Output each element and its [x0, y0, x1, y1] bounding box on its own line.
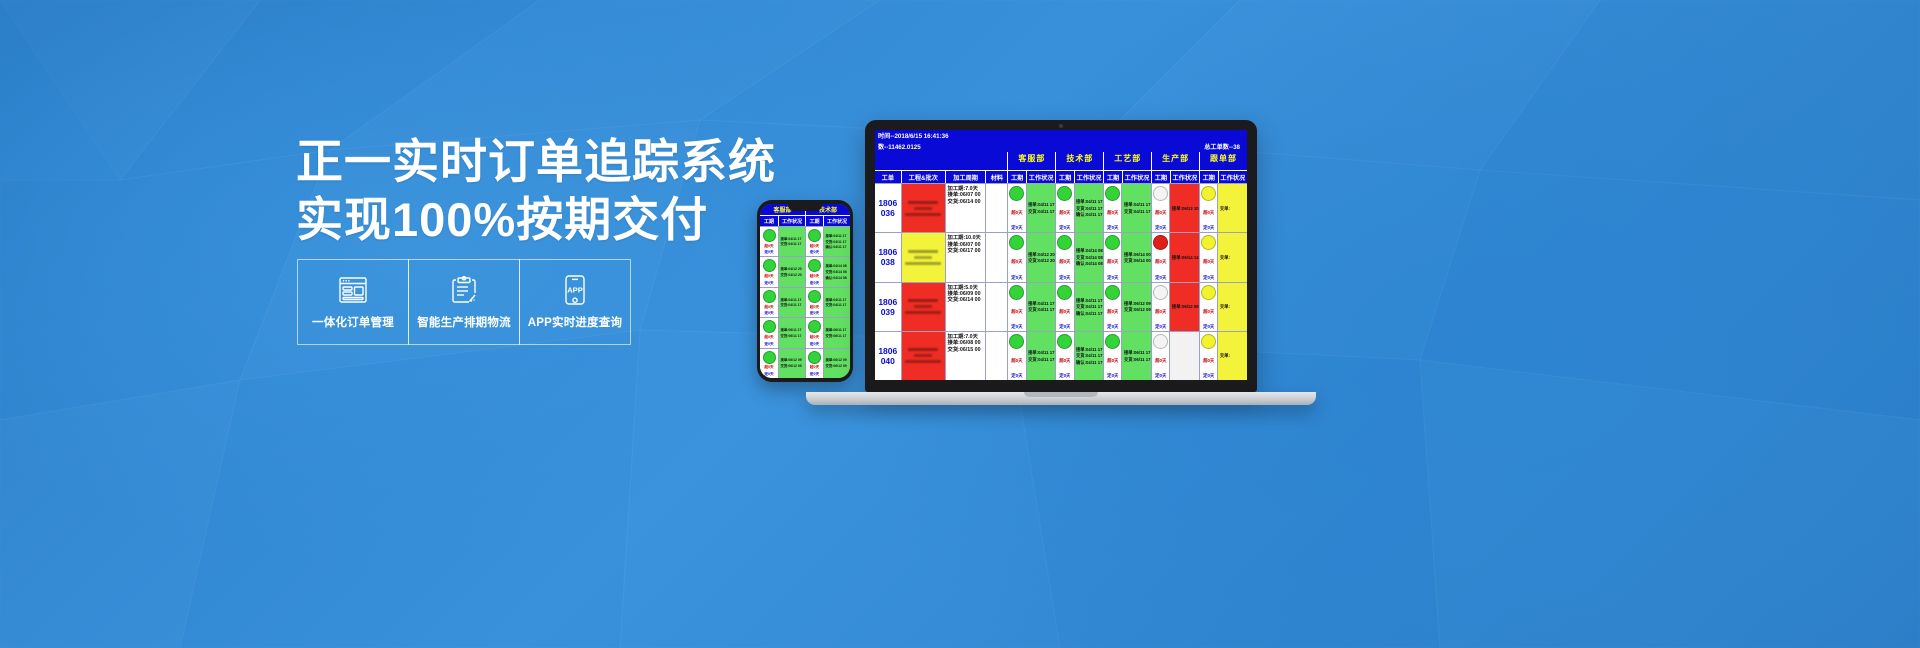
- status-line-1: 接单:06/14 14: [1172, 255, 1198, 260]
- feature-item-production-scheduling[interactable]: 智能生产排期物流: [408, 259, 520, 345]
- laptop-lid: 时间--2018/6/15 16:41:36 数--11462.0125 总工单…: [865, 120, 1257, 392]
- status-line-1: 接单:06/11 17: [1124, 350, 1150, 355]
- duration-set-tag: 定0天: [1203, 225, 1214, 231]
- cell-work-order: 1806036: [875, 184, 901, 232]
- cycle-line-3: 交货:06/14 00: [948, 297, 984, 303]
- board-counter: 数--11462.0125: [878, 142, 921, 151]
- work-order-line-2: 039: [881, 307, 895, 317]
- cell-duration-4[interactable]: 超0天定0天: [1151, 233, 1169, 281]
- status-line-3: 确认:04/11 17: [1076, 212, 1102, 217]
- status-line-1: 交单:: [1220, 304, 1246, 309]
- phone-status-line-1: 接单:04/11 17: [826, 234, 849, 238]
- status-dot-3: [1105, 186, 1120, 201]
- status-line-1: 接单:04/11 17: [1076, 298, 1102, 303]
- cell-work-status-4[interactable]: 接单:06/12 09: [1169, 283, 1199, 331]
- feature-label: 一体化订单管理: [312, 314, 394, 330]
- phone-duration-set-tag: 定0天: [810, 372, 819, 377]
- phone-cell-duration-2[interactable]: 超0天定0天: [805, 349, 823, 378]
- duration-set-tag: 定0天: [1203, 275, 1214, 281]
- column-header-工单: 工单: [875, 170, 901, 183]
- cell-duration-2[interactable]: 超0天定0天: [1055, 233, 1073, 281]
- phone-status-dot-2: [808, 290, 821, 303]
- status-line-2: 交货:04/11 17: [1028, 209, 1054, 214]
- phone-mockup: 客服部技术部 工期工作状况工期工作状况 超0天定0天接单:04/11 17交货:…: [757, 200, 853, 382]
- phone-cell-duration-1[interactable]: 超0天定0天: [760, 288, 778, 317]
- phone-status-dot-1: [763, 290, 776, 303]
- phone-duration-over-tag: 超0天: [810, 365, 819, 370]
- table-row[interactable]: 1806039加工期:5.0天接单:06/09 00交货:06/14 00超0天…: [875, 282, 1247, 331]
- department-header-1: 客服部: [1007, 152, 1055, 170]
- phone-status-line-2: 交货:04/11 17: [781, 303, 804, 307]
- phone-status-line-2: 交货:06/11 17: [781, 334, 804, 338]
- status-dot-4: [1153, 186, 1168, 201]
- status-line-3: 确认:04/11 17: [1076, 360, 1102, 365]
- duration-set-tag: 定0天: [1011, 324, 1022, 330]
- phone-status-dot-1: [763, 259, 776, 272]
- table-row[interactable]: 1806040加工期:7.0天接单:06/08 00交货:06/15 00超0天…: [875, 331, 1247, 380]
- status-line-1: 交单:: [1220, 255, 1246, 260]
- status-dot-5: [1201, 235, 1216, 250]
- status-dot-2: [1057, 186, 1072, 201]
- status-dot-1: [1009, 235, 1024, 250]
- status-dot-5: [1201, 285, 1216, 300]
- status-line-1: 交单:: [1220, 206, 1246, 211]
- status-line-1: 接单:04/11 17: [1076, 347, 1102, 352]
- phone-table-row[interactable]: 超0天定0天接单:06/12 09交货:06/12 09超0天定0天接单:06/…: [760, 348, 850, 378]
- status-dot-2: [1057, 285, 1072, 300]
- status-line-1: 接单:04/14 08: [1076, 248, 1102, 253]
- status-line-1: 交单:: [1220, 353, 1246, 358]
- column-header-2-工作状况: 工作状况: [1074, 170, 1103, 183]
- phone-cell-duration-1[interactable]: 超0天定0天: [760, 318, 778, 347]
- phone-status-line-1: 接单:04/11 17: [781, 298, 804, 302]
- duration-set-tag: 定0天: [1155, 373, 1166, 379]
- feature-item-app-progress-query[interactable]: APP APP实时进度查询: [519, 259, 631, 345]
- phone-duration-over-tag: 超0天: [764, 305, 773, 310]
- cell-duration-2[interactable]: 超0天定0天: [1055, 184, 1073, 232]
- phone-cell-duration-2[interactable]: 超0天定0天: [805, 227, 823, 256]
- phone-column-header-2-工期: 工期: [805, 215, 823, 226]
- duration-over-tag: 超0天: [1059, 358, 1070, 364]
- phone-status-line-2: 交货:04/11 17: [781, 242, 804, 246]
- phone-cell-duration-1[interactable]: 超0天定0天: [760, 349, 778, 378]
- status-line-1: 接单:04/11 17: [1028, 202, 1054, 207]
- phone-duration-set-tag: 定0天: [810, 250, 819, 255]
- status-line-2: 交货:04/11 17: [1028, 357, 1054, 362]
- phone-table-row[interactable]: 超0天定0天接单:04/12 20交货:04/12 20超0天定0天接单:04/…: [760, 256, 850, 286]
- cell-duration-1[interactable]: 超0天定0天: [1007, 184, 1025, 232]
- status-line-2: 交货:04/11 17: [1124, 209, 1150, 214]
- duration-set-tag: 定0天: [1203, 324, 1214, 330]
- phone-column-header-2-工作状况: 工作状况: [823, 215, 850, 226]
- duration-over-tag: 超0天: [1155, 210, 1166, 216]
- duration-over-tag: 超0天: [1059, 210, 1070, 216]
- duration-over-tag: 超0天: [1203, 259, 1214, 265]
- feature-label: APP实时进度查询: [528, 314, 622, 330]
- status-line-1: 接单:04/12 20: [1028, 252, 1054, 257]
- cell-work-order: 1806038: [875, 233, 901, 281]
- status-line-1: 接单:06/14 00: [1124, 252, 1150, 257]
- status-line-2: 交货:04/12 20: [1028, 258, 1054, 263]
- column-header-5-工作状况: 工作状况: [1218, 170, 1247, 183]
- cell-duration-1[interactable]: 超0天定0天: [1007, 233, 1025, 281]
- phone-status-dot-1: [763, 320, 776, 333]
- phone-table-row[interactable]: 超0天定0天接单:04/11 17交货:04/11 17超0天定0天接单:04/…: [760, 226, 850, 256]
- cell-work-status-4[interactable]: 接单:06/14 14: [1169, 233, 1199, 281]
- work-order-line-1: 1806: [878, 247, 897, 257]
- phone-duration-set-tag: 定0天: [764, 342, 773, 347]
- column-header-1-工期: 工期: [1007, 170, 1025, 183]
- phone-table-row[interactable]: 超0天定0天接单:06/11 17交货:06/11 17超0天定0天接单:06/…: [760, 317, 850, 347]
- column-header-1-工作状况: 工作状况: [1026, 170, 1055, 183]
- cell-processing-cycle: 加工期:7.0天接单:06/07 00交货:06/14 00: [945, 184, 986, 232]
- phone-column-header-row: 工期工作状况工期工作状况: [760, 215, 850, 226]
- duration-set-tag: 定0天: [1011, 373, 1022, 379]
- phone-notch: [788, 204, 822, 211]
- work-order-line-2: 036: [881, 208, 895, 218]
- phone-column-header-1-工作状况: 工作状况: [778, 215, 805, 226]
- work-order-line-1: 1806: [878, 346, 897, 356]
- status-line-2: 交货:04/14 08: [1076, 255, 1102, 260]
- phone-status-line-1: 接单:04/11 17: [781, 237, 804, 241]
- phone-status-line-1: 接单:06/12 09: [826, 358, 849, 362]
- status-dot-2: [1057, 334, 1072, 349]
- cell-work-status-1[interactable]: 接单:04/12 20交货:04/12 20: [1026, 233, 1056, 281]
- status-line-1: 接单:04/11 17: [1028, 350, 1054, 355]
- phone-duration-over-tag: 超0天: [764, 365, 773, 370]
- duration-over-tag: 超0天: [1011, 358, 1022, 364]
- duration-set-tag: 定0天: [1011, 225, 1022, 231]
- duration-set-tag: 定0天: [1059, 275, 1070, 281]
- status-dot-4: [1153, 235, 1168, 250]
- phone-cell-work-status-1[interactable]: 接单:06/11 17交货:06/11 17: [778, 318, 805, 347]
- duration-set-tag: 定0天: [1011, 275, 1022, 281]
- cell-work-order: 1806040: [875, 332, 901, 380]
- duration-over-tag: 超0天: [1107, 358, 1118, 364]
- status-dot-4: [1153, 285, 1168, 300]
- phone-cell-duration-1[interactable]: 超0天定0天: [760, 257, 778, 286]
- column-header-工程&批次: 工程&批次: [901, 170, 945, 183]
- phone-duration-set-tag: 定0天: [764, 250, 773, 255]
- work-order-line-2: 040: [881, 356, 895, 366]
- phone-status-line-2: 交货:04/11 17: [826, 240, 849, 244]
- phone-duration-over-tag: 超0天: [764, 244, 773, 249]
- hero-banner: 正一实时订单追踪系统 实现100%按期交付 一体化订单管理: [0, 0, 1920, 648]
- cell-work-status-3[interactable]: 接单:06/12 09交货:06/12 09: [1121, 283, 1151, 331]
- phone-cell-work-status-2[interactable]: 接单:06/12 09交货:06/12 09: [823, 349, 850, 378]
- feature-item-order-management[interactable]: 一体化订单管理: [297, 259, 409, 345]
- status-line-2: 交货:06/12 09: [1124, 307, 1150, 312]
- duration-over-tag: 超0天: [1203, 210, 1214, 216]
- phone-cell-duration-2[interactable]: 超0天定0天: [805, 257, 823, 286]
- status-dot-5: [1201, 186, 1216, 201]
- cell-duration-3[interactable]: 超0天定0天: [1103, 332, 1121, 380]
- phone-cell-duration-1[interactable]: 超0天定0天: [760, 227, 778, 256]
- cell-work-status-3[interactable]: 接单:06/11 17交货:06/11 17: [1121, 332, 1151, 380]
- phone-cell-work-status-1[interactable]: 接单:04/11 17交货:04/11 17: [778, 227, 805, 256]
- column-header-4-工期: 工期: [1151, 170, 1169, 183]
- cell-work-status-2[interactable]: 接单:04/14 08交货:04/14 08确认:04/14 08: [1074, 233, 1104, 281]
- phone-status-dot-1: [763, 351, 776, 364]
- column-header-row: 工单工程&批次加工周期材料工期工作状况工期工作状况工期工作状况工期工作状况工期工…: [875, 170, 1247, 183]
- duration-over-tag: 超0天: [1011, 309, 1022, 315]
- column-header-2-工期: 工期: [1055, 170, 1073, 183]
- phone-cell-work-status-1[interactable]: 接单:04/12 20交货:04/12 20: [778, 257, 805, 286]
- cell-work-status-1[interactable]: 接单:04/11 17交货:04/11 17: [1026, 332, 1056, 380]
- status-line-1: 接单:04/11 17: [1028, 301, 1054, 306]
- phone-duration-over-tag: 超0天: [810, 244, 819, 249]
- cell-work-status-1[interactable]: 接单:04/11 17交货:04/11 17: [1026, 184, 1056, 232]
- column-header-3-工作状况: 工作状况: [1122, 170, 1151, 183]
- cell-work-status-5[interactable]: 交单:: [1217, 332, 1247, 380]
- duration-set-tag: 定0天: [1107, 373, 1118, 379]
- board-status-line-1: 时间--2018/6/15 16:41:36: [875, 130, 1247, 141]
- status-line-2: 交货:04/11 17: [1076, 304, 1102, 309]
- duration-set-tag: 定0天: [1155, 225, 1166, 231]
- board-header: 时间--2018/6/15 16:41:36 数--11462.0125 总工单…: [875, 130, 1247, 183]
- phone-duration-set-tag: 定0天: [810, 281, 819, 286]
- phone-duration-set-tag: 定0天: [764, 311, 773, 316]
- phone-cell-work-status-2[interactable]: 接单:04/14 08交货:04/14 08确认:04/14 08: [823, 257, 850, 286]
- phone-status-line-1: 接单:06/11 17: [826, 328, 849, 332]
- status-line-1: 接单:06/12 09: [1172, 304, 1198, 309]
- status-dot-3: [1105, 334, 1120, 349]
- cell-work-status-3[interactable]: 接单:06/14 00交货:06/14 00: [1121, 233, 1151, 281]
- work-order-line-1: 1806: [878, 297, 897, 307]
- phone-status-dot-2: [808, 259, 821, 272]
- duration-set-tag: 定0天: [1155, 324, 1166, 330]
- cell-work-order: 1806039: [875, 283, 901, 331]
- duration-set-tag: 定0天: [1059, 324, 1070, 330]
- cell-processing-cycle: 加工期:10.0天接单:06/07 00交货:06/17 00: [945, 233, 986, 281]
- cell-work-status-4[interactable]: [1169, 332, 1199, 380]
- status-line-1: 接单:06/13 10: [1172, 206, 1198, 211]
- status-line-1: 接单:04/11 17: [1124, 202, 1150, 207]
- cell-work-status-5[interactable]: 交单:: [1217, 184, 1247, 232]
- duration-over-tag: 超0天: [1107, 259, 1118, 265]
- cell-work-status-3[interactable]: 接单:04/11 17交货:04/11 17: [1121, 184, 1151, 232]
- column-header-加工周期: 加工周期: [945, 170, 985, 183]
- duration-over-tag: 超0天: [1059, 259, 1070, 265]
- phone-status-dot-2: [808, 320, 821, 333]
- duration-set-tag: 定0天: [1155, 275, 1166, 281]
- cycle-line-3: 交货:06/14 00: [948, 199, 984, 205]
- phone-status-line-1: 接单:06/11 17: [781, 328, 804, 332]
- mobile-app-icon: APP: [564, 273, 586, 307]
- status-line-2: 交货:06/11 17: [1124, 357, 1150, 362]
- phone-status-line-2: 交货:06/12 09: [826, 364, 849, 368]
- cell-duration-5[interactable]: 超0天定0天: [1199, 233, 1217, 281]
- status-dot-1: [1009, 186, 1024, 201]
- phone-cell-work-status-1[interactable]: 接单:06/12 09交货:06/12 09: [778, 349, 805, 378]
- department-header-spacer: [875, 152, 1007, 170]
- phone-status-dot-2: [808, 229, 821, 242]
- work-order-line-2: 038: [881, 257, 895, 267]
- duration-over-tag: 超0天: [1011, 259, 1022, 265]
- phone-status-line-3: 确认:04/11 17: [826, 245, 849, 249]
- clipboard-schedule-icon: [451, 273, 477, 307]
- phone-cell-duration-2[interactable]: 超0天定0天: [805, 288, 823, 317]
- cell-material: [985, 332, 1007, 380]
- department-header-2: 技术部: [1055, 152, 1103, 170]
- phone-duration-set-tag: 定0天: [764, 372, 773, 377]
- phone-erp-board: 客服部技术部 工期工作状况工期工作状况 超0天定0天接单:04/11 17交货:…: [760, 204, 850, 378]
- duration-set-tag: 定0天: [1107, 324, 1118, 330]
- cycle-line-3: 交货:06/15 00: [948, 347, 984, 353]
- laptop-base: [806, 392, 1316, 405]
- phone-cell-work-status-2[interactable]: 接单:04/11 17交货:04/11 17确认:04/11 17: [823, 227, 850, 256]
- phone-duration-over-tag: 超0天: [764, 335, 773, 340]
- phone-cell-work-status-2[interactable]: 接单:04/11 17交货:04/11 17: [823, 288, 850, 317]
- phone-duration-over-tag: 超0天: [764, 274, 773, 279]
- cell-duration-3[interactable]: 超0天定0天: [1103, 283, 1121, 331]
- cell-project-batch: [901, 283, 945, 331]
- feature-label: 智能生产排期物流: [417, 314, 511, 330]
- phone-status-line-2: 交货:04/14 08: [826, 270, 849, 274]
- column-header-4-工作状况: 工作状况: [1170, 170, 1199, 183]
- cell-processing-cycle: 加工期:5.0天接单:06/09 00交货:06/14 00: [945, 283, 986, 331]
- cell-work-status-5[interactable]: 交单:: [1217, 233, 1247, 281]
- status-line-3: 确认:04/14 08: [1076, 261, 1102, 266]
- cell-duration-3[interactable]: 超0天定0天: [1103, 184, 1121, 232]
- status-dot-1: [1009, 285, 1024, 300]
- cell-work-status-2[interactable]: 接单:04/11 17交货:04/11 17确认:04/11 17: [1074, 283, 1104, 331]
- status-line-2: 交货:04/11 17: [1076, 353, 1102, 358]
- dashboard-window-icon: [339, 273, 367, 307]
- phone-status-line-2: 交货:04/12 20: [781, 273, 804, 277]
- department-header-3: 工艺部: [1103, 152, 1151, 170]
- cell-duration-4[interactable]: 超0天定0天: [1151, 332, 1169, 380]
- status-dot-1: [1009, 334, 1024, 349]
- duration-set-tag: 定0天: [1107, 225, 1118, 231]
- status-line-3: 确认:04/11 17: [1076, 311, 1102, 316]
- department-header-4: 生产部: [1151, 152, 1199, 170]
- cell-material: [985, 184, 1007, 232]
- column-header-3-工期: 工期: [1103, 170, 1121, 183]
- laptop-screen[interactable]: 时间--2018/6/15 16:41:36 数--11462.0125 总工单…: [875, 130, 1247, 380]
- phone-status-line-1: 接单:04/11 17: [826, 298, 849, 302]
- cell-work-status-4[interactable]: 接单:06/13 10: [1169, 184, 1199, 232]
- cell-work-status-5[interactable]: 交单:: [1217, 283, 1247, 331]
- table-row[interactable]: 1806038加工期:10.0天接单:06/07 00交货:06/17 00超0…: [875, 232, 1247, 281]
- phone-duration-over-tag: 超0天: [810, 274, 819, 279]
- cell-project-batch: [901, 233, 945, 281]
- cell-duration-4[interactable]: 超0天定0天: [1151, 283, 1169, 331]
- phone-status-dot-1: [763, 229, 776, 242]
- phone-cell-work-status-2[interactable]: 接单:06/11 17交货:06/11 17: [823, 318, 850, 347]
- phone-status-line-3: 确认:04/14 08: [826, 276, 849, 280]
- duration-over-tag: 超0天: [1107, 210, 1118, 216]
- status-line-1: 接单:06/12 09: [1124, 301, 1150, 306]
- phone-status-dot-2: [808, 351, 821, 364]
- cell-duration-3[interactable]: 超0天定0天: [1103, 233, 1121, 281]
- phone-duration-over-tag: 超0天: [810, 335, 819, 340]
- phone-duration-set-tag: 定0天: [810, 342, 819, 347]
- work-order-line-1: 1806: [878, 198, 897, 208]
- phone-status-line-2: 交货:06/11 17: [826, 334, 849, 338]
- duration-set-tag: 定0天: [1107, 275, 1118, 281]
- table-row[interactable]: 1806036加工期:7.0天接单:06/07 00交货:06/14 00超0天…: [875, 183, 1247, 232]
- cell-duration-5[interactable]: 超0天定0天: [1199, 283, 1217, 331]
- duration-over-tag: 超0天: [1011, 210, 1022, 216]
- duration-set-tag: 定0天: [1059, 225, 1070, 231]
- phone-column-header-1-工期: 工期: [760, 215, 778, 226]
- phone-table-row[interactable]: 超0天定0天接单:04/11 17交货:04/11 17超0天定0天接单:04/…: [760, 287, 850, 317]
- phone-status-line-1: 接单:04/12 20: [781, 267, 804, 271]
- cell-duration-2[interactable]: 超0天定0天: [1055, 283, 1073, 331]
- status-dot-5: [1201, 334, 1216, 349]
- headline-line-1: 正一实时订单追踪系统: [296, 135, 776, 188]
- feature-list: 一体化订单管理 智能生产排期物流: [297, 259, 631, 345]
- duration-over-tag: 超0天: [1155, 259, 1166, 265]
- duration-over-tag: 超0天: [1155, 309, 1166, 315]
- cell-processing-cycle: 加工期:7.0天接单:06/08 00交货:06/15 00: [945, 332, 986, 380]
- cell-work-status-2[interactable]: 接单:04/11 17交货:04/11 17确认:04/11 17: [1074, 332, 1104, 380]
- duration-over-tag: 超0天: [1107, 309, 1118, 315]
- cell-project-batch: [901, 332, 945, 380]
- department-header-5: 跟单部: [1199, 152, 1247, 170]
- status-dot-4: [1153, 334, 1168, 349]
- duration-over-tag: 超0天: [1059, 309, 1070, 315]
- status-dot-3: [1105, 285, 1120, 300]
- cell-duration-5[interactable]: 超0天定0天: [1199, 184, 1217, 232]
- cell-duration-1[interactable]: 超0天定0天: [1007, 332, 1025, 380]
- board-status-line-2: 数--11462.0125 总工单数--38: [875, 141, 1247, 152]
- duration-set-tag: 定0天: [1059, 373, 1070, 379]
- board-timestamp: 时间--2018/6/15 16:41:36: [878, 131, 949, 140]
- column-header-材料: 材料: [985, 170, 1007, 183]
- duration-over-tag: 超0天: [1203, 358, 1214, 364]
- cycle-line-3: 交货:06/17 00: [948, 248, 984, 254]
- cell-duration-4[interactable]: 超0天定0天: [1151, 184, 1169, 232]
- cell-duration-2[interactable]: 超0天定0天: [1055, 332, 1073, 380]
- board-total-orders: 总工单数--38: [1204, 142, 1240, 151]
- phone-status-line-2: 交货:06/12 09: [781, 364, 804, 368]
- cell-duration-1[interactable]: 超0天定0天: [1007, 283, 1025, 331]
- phone-status-line-1: 接单:06/12 09: [781, 358, 804, 362]
- cell-project-batch: [901, 184, 945, 232]
- phone-status-line-1: 接单:04/14 08: [826, 264, 849, 268]
- status-dot-2: [1057, 235, 1072, 250]
- app-badge-text: APP: [567, 285, 583, 294]
- cell-work-status-2[interactable]: 接单:04/11 17交货:04/11 17确认:04/11 17: [1074, 184, 1104, 232]
- phone-screen[interactable]: 客服部技术部 工期工作状况工期工作状况 超0天定0天接单:04/11 17交货:…: [760, 204, 850, 378]
- status-line-2: 交货:04/11 17: [1028, 307, 1054, 312]
- phone-cell-duration-2[interactable]: 超0天定0天: [805, 318, 823, 347]
- cell-material: [985, 233, 1007, 281]
- phone-cell-work-status-1[interactable]: 接单:04/11 17交货:04/11 17: [778, 288, 805, 317]
- phone-duration-set-tag: 定0天: [810, 311, 819, 316]
- status-line-2: 交货:04/11 17: [1076, 206, 1102, 211]
- cell-work-status-1[interactable]: 接单:04/11 17交货:04/11 17: [1026, 283, 1056, 331]
- duration-over-tag: 超0天: [1155, 358, 1166, 364]
- status-line-2: 交货:06/14 00: [1124, 258, 1150, 263]
- department-header-row: 客服部技术部工艺部生产部跟单部: [875, 152, 1247, 170]
- phone-duration-over-tag: 超0天: [810, 305, 819, 310]
- table-body[interactable]: 1806036加工期:7.0天接单:06/07 00交货:06/14 00超0天…: [875, 183, 1247, 380]
- laptop-mockup: 时间--2018/6/15 16:41:36 数--11462.0125 总工单…: [865, 120, 1316, 405]
- erp-board: 时间--2018/6/15 16:41:36 数--11462.0125 总工单…: [875, 130, 1247, 380]
- phone-table-body[interactable]: 超0天定0天接单:04/11 17交货:04/11 17超0天定0天接单:04/…: [760, 226, 850, 378]
- duration-set-tag: 定0天: [1203, 373, 1214, 379]
- column-header-5-工期: 工期: [1199, 170, 1217, 183]
- status-line-1: 接单:04/11 17: [1076, 199, 1102, 204]
- phone-status-line-2: 交货:04/11 17: [826, 303, 849, 307]
- cell-material: [985, 283, 1007, 331]
- cell-duration-5[interactable]: 超0天定0天: [1199, 332, 1217, 380]
- duration-over-tag: 超0天: [1203, 309, 1214, 315]
- status-dot-3: [1105, 235, 1120, 250]
